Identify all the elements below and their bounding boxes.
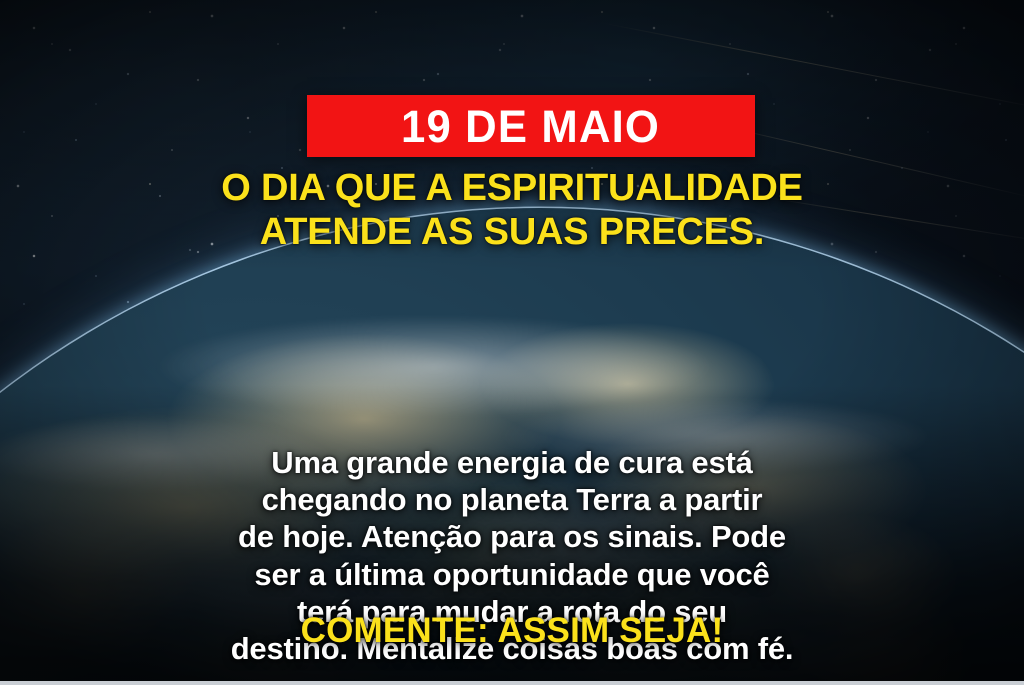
headline-line-2: ATENDE AS SUAS PRECES. [40, 210, 984, 254]
body-line-4: ser a última oportunidade que você [58, 556, 966, 593]
headline: O DIA QUE A ESPIRITUALIDADE ATENDE AS SU… [0, 166, 1024, 255]
body-line-2: chegando no planeta Terra a partir [58, 481, 966, 518]
bottom-edge-strip [0, 681, 1024, 685]
headline-line-1: O DIA QUE A ESPIRITUALIDADE [40, 166, 984, 210]
body-line-1: Uma grande energia de cura está [58, 444, 966, 481]
poster: 19 DE MAIO O DIA QUE A ESPIRITUALIDADE A… [0, 0, 1024, 685]
call-to-action: COMENTE: ASSIM SEJA! [0, 612, 1024, 651]
content-layer: 19 DE MAIO O DIA QUE A ESPIRITUALIDADE A… [0, 0, 1024, 685]
date-banner-label: 19 DE MAIO [401, 104, 660, 149]
body-line-3: de hoje. Atenção para os sinais. Pode [58, 518, 966, 555]
date-banner: 19 DE MAIO [307, 95, 755, 157]
